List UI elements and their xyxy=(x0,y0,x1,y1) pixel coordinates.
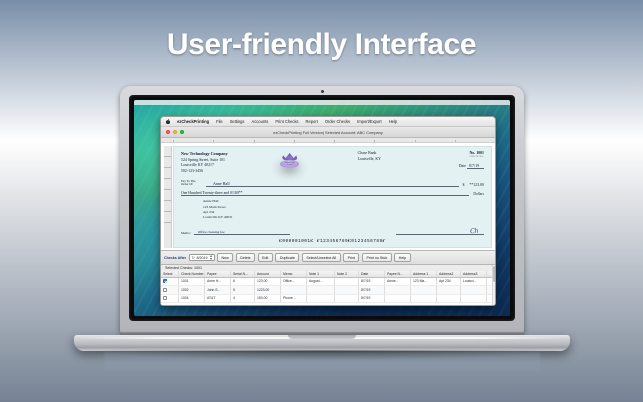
help-button[interactable]: Help xyxy=(394,253,410,261)
app-menubar[interactable]: ezCheckPrinting File Settings Accounts P… xyxy=(161,117,495,127)
laptop-reflection xyxy=(104,352,540,374)
column-header-payee-name[interactable]: Payee N... xyxy=(385,271,411,277)
vertical-ruler xyxy=(164,146,172,248)
column-header-note2[interactable]: Note 2 xyxy=(335,271,359,277)
ruler-tick xyxy=(173,140,213,143)
menu-item-settings[interactable]: Settings xyxy=(230,119,245,124)
ruler-tick xyxy=(374,140,414,143)
check-date-line: Date 8/7/19 xyxy=(432,164,484,168)
menu-item-import-export[interactable]: Import/Export xyxy=(357,119,382,124)
memo-signature-row: Memo: Office cleaning fee Ch xyxy=(181,224,484,235)
bank-name: Chase Bank xyxy=(358,151,377,155)
window-title: ezCheckPrinting Full Version| Selected A… xyxy=(166,130,490,135)
ruler-tick xyxy=(164,179,171,190)
base-notch xyxy=(288,335,356,339)
column-header-note1[interactable]: Note 1 xyxy=(307,271,335,277)
table-row[interactable]: 1001 Anne H... 6 123.00 Office... August… xyxy=(161,278,495,286)
ruler-tick xyxy=(294,140,334,143)
company-address-block: New Technology Company 524 Spring Street… xyxy=(181,151,228,175)
window-controls[interactable] xyxy=(166,130,184,134)
date-value: 8/7/19 xyxy=(467,164,484,169)
date-field-value: 8/2019 xyxy=(197,256,208,260)
apple-logo-icon[interactable] xyxy=(166,119,170,124)
column-header-payee[interactable]: Payee xyxy=(205,271,231,277)
cell-check-number: 1001 xyxy=(179,278,205,285)
table-row[interactable]: 1004 AT&T 4 150.00 Phone... 8/7/19 xyxy=(161,295,495,303)
check-document[interactable]: New Technology Company 524 Spring Street… xyxy=(173,146,492,248)
cell-memo xyxy=(281,286,307,293)
column-header-check-number[interactable]: Check Number xyxy=(179,271,205,277)
webcam-icon xyxy=(321,90,324,93)
memo-value[interactable]: Office cleaning fee xyxy=(194,230,290,235)
cell-serial: 4 xyxy=(231,295,255,302)
check-toolbar[interactable]: Checks After 7/ 8/2019 New Delete Edit xyxy=(161,250,495,264)
cell-address3 xyxy=(461,286,487,293)
vertical-scrollbar[interactable] xyxy=(492,265,495,306)
company-name: New Technology Company xyxy=(181,151,228,156)
laptop-bezel: ezCheckPrinting File Settings Accounts P… xyxy=(129,95,515,321)
ruler-tick xyxy=(164,201,171,212)
select-unselect-all-button[interactable]: Select/Unselect All xyxy=(302,253,341,261)
cell-date: 8/7/19 xyxy=(359,286,385,293)
menu-app-name[interactable]: ezCheckPrinting xyxy=(177,119,209,124)
company-phone: 502-123-3456 xyxy=(181,169,203,173)
edit-button[interactable]: Edit xyxy=(258,253,273,261)
company-street: 524 Spring Street, Suite 101 xyxy=(181,158,225,162)
cell-memo: Office... xyxy=(281,278,307,285)
payee-address-city: Louisville KY 40031 xyxy=(203,215,233,219)
cell-note2 xyxy=(335,286,359,293)
cell-amount: 123.00 xyxy=(255,278,281,285)
menu-item-accounts[interactable]: Accounts xyxy=(251,119,268,124)
date-prefix: 7/ xyxy=(192,256,195,260)
cell-address2: Apt 234 xyxy=(437,278,461,285)
stepper-down-icon[interactable] xyxy=(210,258,212,260)
ruler-tick xyxy=(164,157,171,168)
payee-address-street: 123 Main Street xyxy=(203,205,226,209)
cell-serial: 6 xyxy=(231,278,255,285)
micr-line: ⑆000001001⑆ ⑈123456789⑆0123456789⑈ xyxy=(181,238,484,244)
company-city: Louisville KY 40217 xyxy=(181,163,214,167)
amount-block: $ **123.00 xyxy=(462,183,484,187)
bank-city: Louisville, KY xyxy=(358,157,381,161)
bank-block: Chase Bank Louisville, KY xyxy=(358,151,381,175)
column-header-address1[interactable]: Address 1 xyxy=(411,271,437,277)
table-header-row: Select Check Number Payee Serial N... Am… xyxy=(161,271,495,278)
pay-to-line2: Order Of xyxy=(181,182,193,186)
logo-caption-line2: Nation xyxy=(279,164,301,167)
new-button[interactable]: New xyxy=(217,253,233,261)
checks-after-date-input[interactable]: 7/ 8/2019 xyxy=(189,254,215,262)
company-logo-icon: Technology Nation xyxy=(279,152,301,169)
pay-to-label: Pay To The Order Of xyxy=(181,180,203,187)
ruler-tick xyxy=(164,168,171,179)
row-checkbox[interactable] xyxy=(163,279,167,283)
zoom-button[interactable] xyxy=(180,130,184,134)
menu-item-print-checks[interactable]: Print Checks xyxy=(275,119,298,124)
cell-payee: AT&T xyxy=(205,295,231,302)
cell-address3: Louisvi... xyxy=(461,278,487,285)
payee-value[interactable]: Anne Hall xyxy=(206,181,459,187)
menu-item-file[interactable]: File xyxy=(216,119,223,124)
row-select-cell[interactable] xyxy=(161,278,179,285)
currency-symbol: $ xyxy=(462,183,464,187)
column-header-memo[interactable]: Memo xyxy=(281,271,307,277)
payee-address-block: Annie Hall 123 Main Street Apt 234 Louis… xyxy=(181,199,484,220)
date-label: Date xyxy=(459,164,466,168)
cell-address1: 123 Ma... xyxy=(411,278,437,285)
close-button[interactable] xyxy=(166,130,170,134)
cell-address1 xyxy=(411,295,437,302)
cell-address1 xyxy=(411,286,437,293)
row-checkbox[interactable] xyxy=(163,288,167,292)
checks-table[interactable]: Select Check Number Payee Serial N... Am… xyxy=(161,271,495,306)
cell-payee-name xyxy=(385,295,411,302)
cell-note1 xyxy=(307,286,335,293)
cell-note2 xyxy=(335,278,359,285)
cell-amount: 150.00 xyxy=(255,295,281,302)
laptop-screen: ezCheckPrinting File Settings Accounts P… xyxy=(134,100,510,316)
checks-after-label: Checks After xyxy=(164,256,186,260)
payee-address-name: Annie Hall xyxy=(203,199,218,203)
ruler-tick xyxy=(415,140,455,143)
cell-amount: 1223.00 xyxy=(255,286,281,293)
check-number-sublabel: CHECK NO. xyxy=(432,155,484,158)
cell-address3 xyxy=(461,295,487,302)
menu-item-help[interactable]: Help xyxy=(389,119,397,124)
cell-serial: 5 xyxy=(231,286,255,293)
column-header-serial[interactable]: Serial N... xyxy=(231,271,255,277)
macos-menubar xyxy=(134,100,510,105)
ruler-tick xyxy=(164,190,171,201)
ruler-tick xyxy=(455,140,495,143)
ruler-tick xyxy=(213,140,253,143)
cell-payee: John S... xyxy=(205,286,231,293)
cell-payee-name xyxy=(385,286,411,293)
column-header-address2[interactable]: Address2 xyxy=(437,271,461,277)
laptop-mockup: ezCheckPrinting File Settings Accounts P… xyxy=(74,86,570,368)
cell-date: 8/7/19 xyxy=(359,295,385,302)
amount-value: **123.00 xyxy=(469,183,484,187)
cell-note1 xyxy=(307,295,335,302)
amount-in-words: One Hundred Twenty-three and 0/100** xyxy=(181,191,469,196)
print-button[interactable]: Print xyxy=(343,253,359,261)
print-no-stub-button[interactable]: Print no Stub xyxy=(362,253,392,261)
cell-date: 8/7/19 xyxy=(359,278,385,285)
dollars-label: Dollars xyxy=(473,192,484,196)
row-select-cell[interactable] xyxy=(161,286,179,293)
laptop-lid: ezCheckPrinting File Settings Accounts P… xyxy=(120,86,524,334)
cell-payee: Anne H... xyxy=(205,278,231,285)
column-header-amount[interactable]: Amount xyxy=(255,271,281,277)
ruler-tick xyxy=(164,146,171,157)
cell-address2 xyxy=(437,286,461,293)
cell-note1: August... xyxy=(307,278,335,285)
delete-button[interactable]: Delete xyxy=(236,253,255,261)
laptop-base xyxy=(74,335,570,351)
row-select-cell[interactable] xyxy=(161,295,179,302)
ezcheckprinting-window[interactable]: ezCheckPrinting File Settings Accounts P… xyxy=(160,116,496,306)
duplicate-button[interactable]: Duplicate xyxy=(275,253,299,261)
menu-item-report[interactable]: Report xyxy=(306,119,318,124)
scrollbar-thumb[interactable] xyxy=(493,266,495,282)
ruler-tick xyxy=(254,140,294,143)
memo-label: Memo: xyxy=(181,231,191,235)
column-header-date[interactable]: Date xyxy=(359,271,385,277)
cell-check-number: 1004 xyxy=(179,295,205,302)
check-preview-area[interactable]: New Technology Company 524 Spring Street… xyxy=(161,143,495,250)
menu-item-order-checks[interactable]: Order Checks xyxy=(325,119,350,124)
amount-words-row: One Hundred Twenty-three and 0/100** Dol… xyxy=(181,191,484,196)
column-header-select[interactable]: Select xyxy=(161,271,179,277)
pay-to-order-row: Pay To The Order Of Anne Hall $ **123.00 xyxy=(181,180,484,187)
ruler-tick xyxy=(164,212,171,223)
ruler-tick xyxy=(334,140,374,143)
cell-memo: Phone... xyxy=(281,295,307,302)
date-stepper[interactable] xyxy=(210,255,212,260)
payee-address-unit: Apt 234 xyxy=(203,210,214,214)
table-empty-space xyxy=(161,303,495,306)
logo-caption: Technology Nation xyxy=(279,162,301,168)
cell-payee-name: Annie... xyxy=(385,278,411,285)
cell-check-number: 1002 xyxy=(179,286,205,293)
cell-address2 xyxy=(437,295,461,302)
signature-mark: Ch xyxy=(469,227,478,236)
minimize-button[interactable] xyxy=(173,130,177,134)
cell-note2 xyxy=(335,295,359,302)
page-title: User-friendly Interface xyxy=(0,28,643,62)
row-checkbox[interactable] xyxy=(163,296,167,300)
signature-line: Ch xyxy=(396,224,484,235)
window-titlebar: ezCheckPrinting Full Version| Selected A… xyxy=(161,127,495,138)
check-number-block: No. 1001 CHECK NO. Date 8/7/19 xyxy=(432,151,484,175)
column-header-address3[interactable]: Address3 xyxy=(461,271,487,277)
check-header: New Technology Company 524 Spring Street… xyxy=(181,151,484,175)
table-row[interactable]: 1002 John S... 5 1223.00 8/7/19 xyxy=(161,286,495,294)
